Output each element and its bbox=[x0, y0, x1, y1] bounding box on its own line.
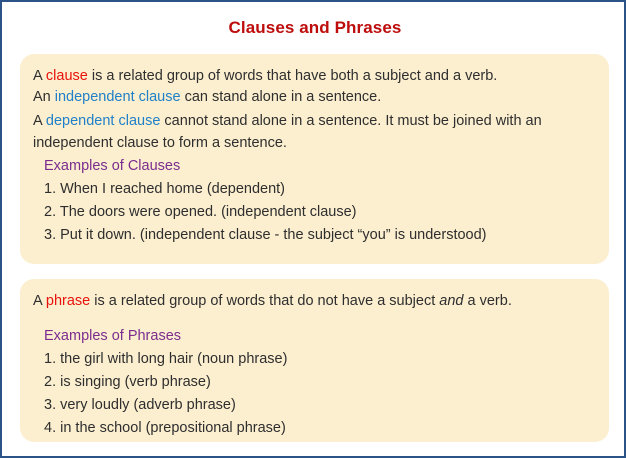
list-item: 3. Put it down. (independent clause - th… bbox=[44, 227, 487, 243]
examples-of-clauses-heading: Examples of Clauses bbox=[44, 158, 180, 174]
phrase-def1-italic-and: and bbox=[439, 293, 463, 309]
phrases-card: A phrase is a related group of words tha… bbox=[20, 279, 609, 442]
phrase-def1-middle: is a related group of words that do not … bbox=[90, 293, 439, 309]
list-item: 4. in the school (prepositional phrase) bbox=[44, 420, 286, 436]
clause-def3-before: A bbox=[33, 113, 46, 129]
clause-def1-after: is a related group of words that have bo… bbox=[88, 68, 497, 84]
dependent-clause-keyword: dependent clause bbox=[46, 113, 161, 129]
clause-def2-before: An bbox=[33, 89, 55, 105]
clause-def1-before: A bbox=[33, 68, 46, 84]
phrase-keyword: phrase bbox=[46, 293, 90, 309]
worksheet-page: Clauses and Phrases A clause is a relate… bbox=[0, 0, 626, 458]
clause-definition-line-3: A dependent clause cannot stand alone in… bbox=[33, 110, 601, 154]
list-item: 3. very loudly (adverb phrase) bbox=[44, 397, 236, 413]
clause-keyword: clause bbox=[46, 68, 88, 84]
clause-definition-line-2: An independent clause can stand alone in… bbox=[33, 89, 381, 106]
clause-definition-line-1: A clause is a related group of words tha… bbox=[33, 68, 497, 85]
phrase-def1-after: a verb. bbox=[463, 293, 511, 309]
list-item: 1. the girl with long hair (noun phrase) bbox=[44, 351, 287, 367]
phrase-def1-before: A bbox=[33, 293, 46, 309]
independent-clause-keyword: independent clause bbox=[55, 89, 181, 105]
clause-def2-after: can stand alone in a sentence. bbox=[181, 89, 382, 105]
page-title: Clauses and Phrases bbox=[2, 18, 626, 38]
list-item: 2. The doors were opened. (independent c… bbox=[44, 204, 357, 220]
list-item: 1. When I reached home (dependent) bbox=[44, 181, 285, 197]
clauses-card: A clause is a related group of words tha… bbox=[20, 54, 609, 264]
examples-of-phrases-heading: Examples of Phrases bbox=[44, 328, 181, 344]
list-item: 2. is singing (verb phrase) bbox=[44, 374, 211, 390]
phrase-definition-line-1: A phrase is a related group of words tha… bbox=[33, 293, 512, 310]
